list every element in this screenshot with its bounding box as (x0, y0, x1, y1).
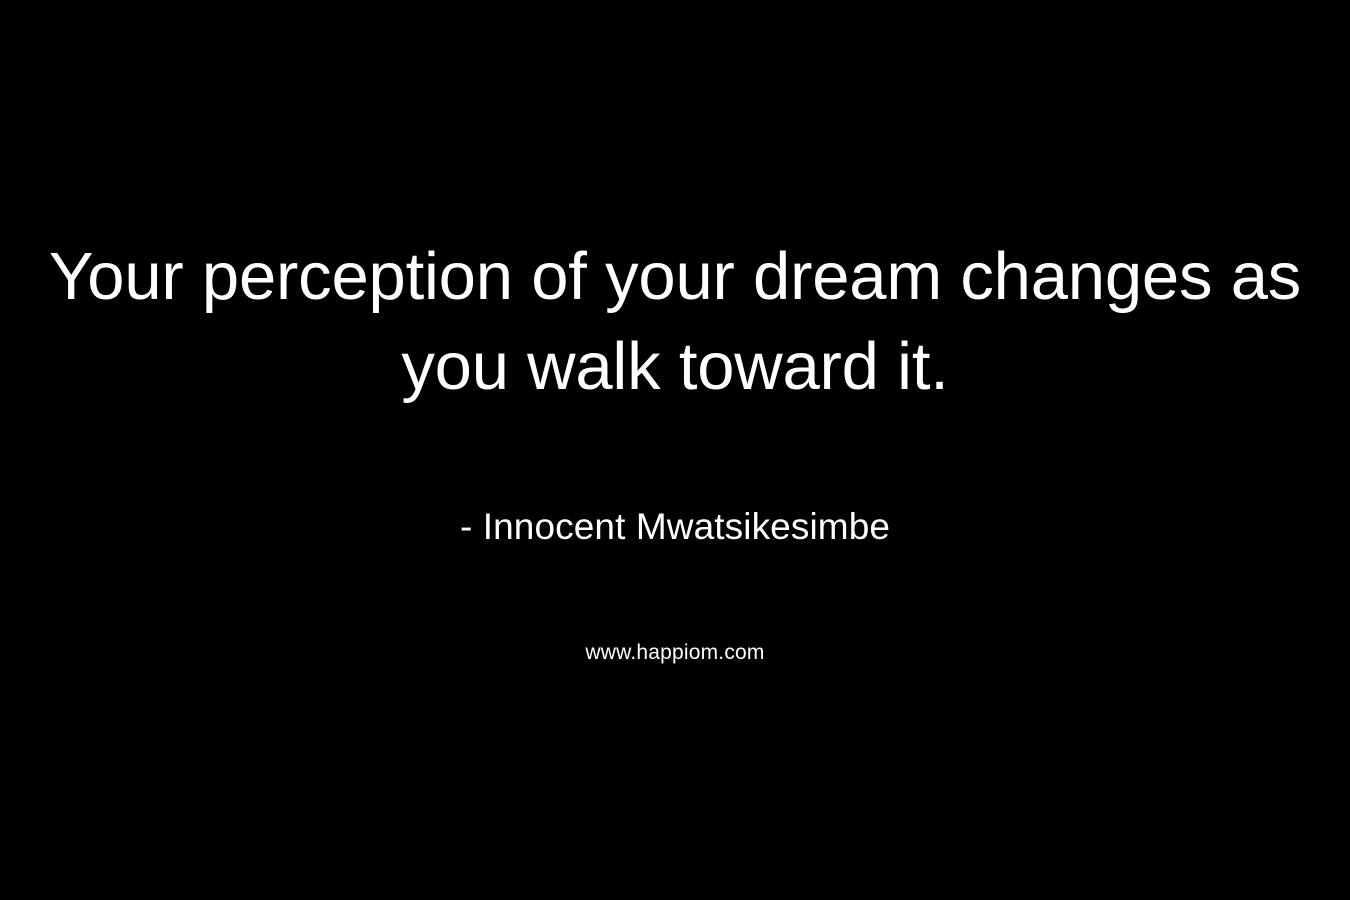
author-attribution: - Innocent Mwatsikesimbe (0, 505, 1350, 549)
site-watermark: www.happiom.com (0, 639, 1350, 667)
quote-text: Your perception of your dream changes as… (0, 232, 1350, 412)
quote-card: Your perception of your dream changes as… (0, 0, 1350, 900)
